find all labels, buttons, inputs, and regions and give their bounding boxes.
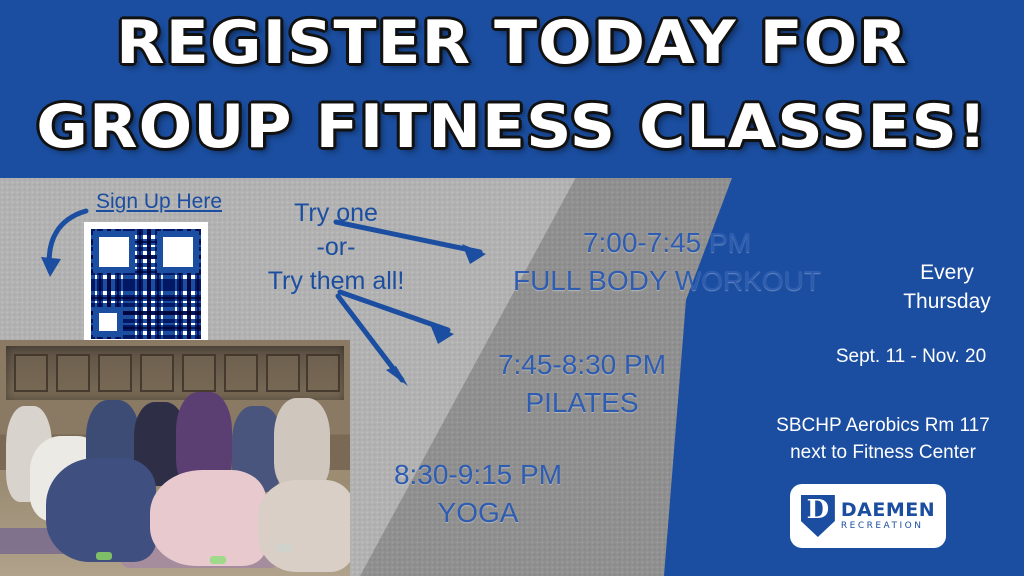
schedule-day-line-2: Thursday [862, 287, 1024, 316]
schedule-dates: Sept. 11 - Nov. 20 [798, 344, 1024, 370]
poster-canvas: REGISTER TODAY FOR GROUP FITNESS CLASSES… [0, 0, 1024, 576]
location-info: SBCHP Aerobics Rm 117 next to Fitness Ce… [742, 412, 1024, 466]
qr-code-icon[interactable] [84, 222, 208, 346]
daemen-recreation-logo: D DAEMEN RECREATION [790, 484, 946, 548]
class-entry: 8:30-9:15 PM YOGA [314, 456, 642, 532]
photo-shelving [6, 346, 344, 400]
poster-title-line-1: REGISTER TODAY FOR [0, 8, 1024, 78]
schedule-day-line-1: Every [862, 258, 1024, 287]
class-time: 7:00-7:45 PM [452, 224, 882, 262]
photo-person [46, 458, 156, 562]
photo-person [274, 398, 330, 490]
poster-title-line-2: GROUP FITNESS CLASSES! [0, 92, 1024, 162]
location-line-1: SBCHP Aerobics Rm 117 [742, 412, 1024, 439]
qr-code-pattern [91, 229, 201, 339]
fitness-class-photo [0, 340, 350, 576]
location-line-2: next to Fitness Center [742, 439, 1024, 466]
logo-name: DAEMEN [841, 500, 935, 520]
logo-subtitle: RECREATION [841, 520, 935, 532]
photo-dumbbell [96, 552, 112, 560]
class-name: PILATES [404, 384, 760, 422]
class-name: FULL BODY WORKOUT [452, 262, 882, 300]
photo-person [150, 470, 266, 566]
class-name: YOGA [314, 494, 642, 532]
photo-dumbbell [210, 556, 226, 564]
shield-icon: D [801, 495, 835, 537]
sign-up-here-label: Sign Up Here [84, 190, 234, 214]
qr-eye-bottom-left [93, 307, 123, 337]
class-time: 8:30-9:15 PM [314, 456, 642, 494]
schedule-day: Every Thursday [862, 258, 1024, 316]
class-time: 7:45-8:30 PM [404, 346, 760, 384]
logo-text: DAEMEN RECREATION [841, 500, 935, 532]
photo-person [258, 480, 350, 572]
class-entry: 7:45-8:30 PM PILATES [404, 346, 760, 422]
photo-dumbbell [276, 544, 292, 552]
class-entry: 7:00-7:45 PM FULL BODY WORKOUT [452, 224, 882, 300]
